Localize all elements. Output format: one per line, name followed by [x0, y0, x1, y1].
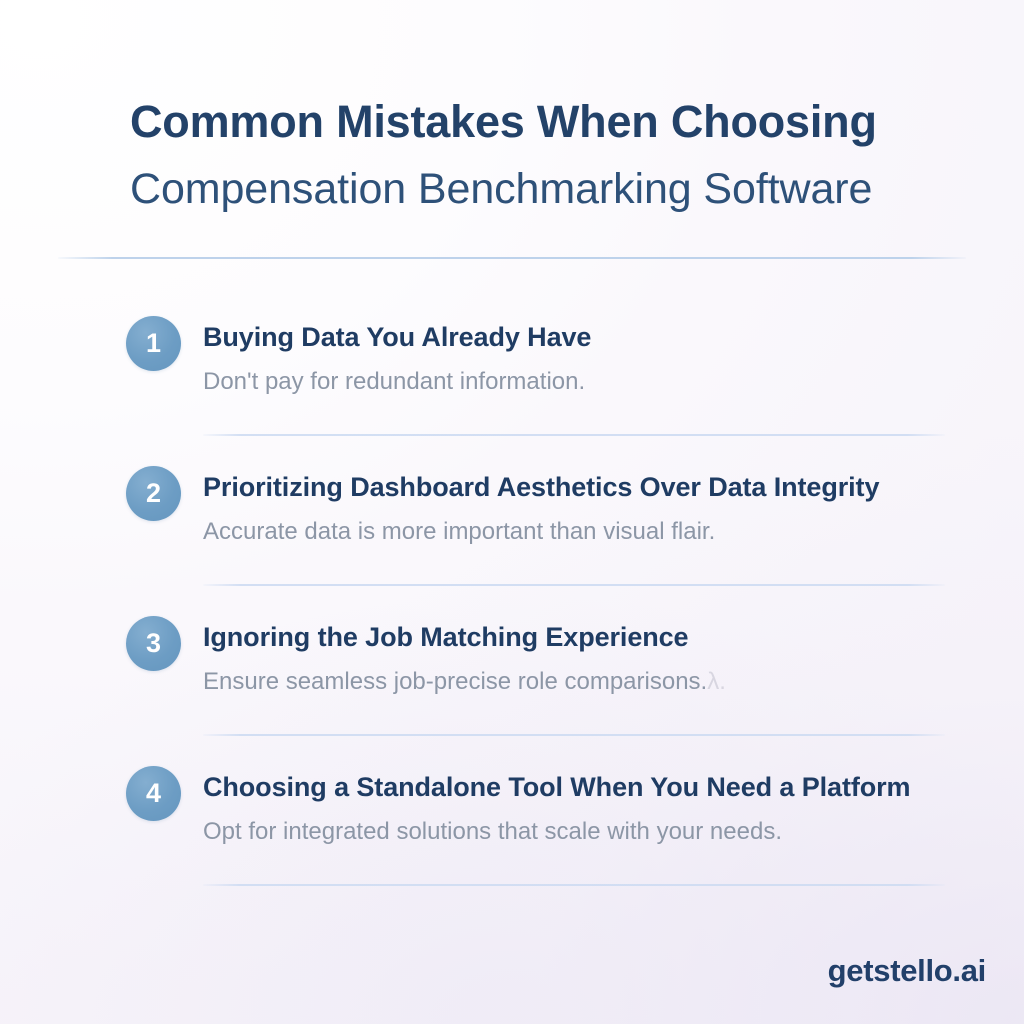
item-heading: Ignoring the Job Matching Experience [203, 604, 996, 653]
header-divider [58, 257, 966, 259]
brand-logo-text: getstello.ai [828, 955, 986, 986]
page-title-line-2: Compensation Benchmarking Software [130, 164, 970, 215]
item-divider [203, 884, 945, 886]
item-divider [203, 434, 945, 436]
list-item: 1 Buying Data You Already Have Don't pay… [0, 304, 1024, 454]
item-subtitle: Ensure seamless job-precise role compari… [203, 667, 996, 697]
item-subtitle: Opt for integrated solutions that scale … [203, 817, 996, 847]
list-item: 4 Choosing a Standalone Tool When You Ne… [0, 754, 1024, 904]
mistakes-list: 1 Buying Data You Already Have Don't pay… [0, 304, 1024, 904]
item-divider [203, 734, 945, 736]
item-text-block: Buying Data You Already Have Don't pay f… [203, 304, 996, 397]
page-title-line-1: Common Mistakes When Choosing [130, 96, 970, 148]
item-heading: Buying Data You Already Have [203, 304, 996, 353]
infographic-content: Common Mistakes When Choosing Compensati… [0, 0, 1024, 1024]
item-divider [203, 584, 945, 586]
item-subtitle: Don't pay for redundant information. [203, 367, 996, 397]
list-item: 3 Ignoring the Job Matching Experience E… [0, 604, 1024, 754]
item-heading: Prioritizing Dashboard Aesthetics Over D… [203, 454, 996, 503]
item-subtitle: Accurate data is more important than vis… [203, 517, 996, 547]
item-text-block: Choosing a Standalone Tool When You Need… [203, 754, 996, 847]
item-subtitle-text: Ensure seamless job-precise role compari… [203, 668, 707, 695]
item-heading: Choosing a Standalone Tool When You Need… [203, 754, 996, 803]
item-number-badge: 2 [126, 466, 181, 521]
item-text-block: Ignoring the Job Matching Experience Ens… [203, 604, 996, 697]
list-item: 2 Prioritizing Dashboard Aesthetics Over… [0, 454, 1024, 604]
item-number-badge: 1 [126, 316, 181, 371]
render-artifact-glyph: λ. [707, 668, 726, 695]
item-number-badge: 4 [126, 766, 181, 821]
item-number-badge: 3 [126, 616, 181, 671]
item-text-block: Prioritizing Dashboard Aesthetics Over D… [203, 454, 996, 547]
title-block: Common Mistakes When Choosing Compensati… [130, 96, 970, 215]
infographic-canvas: Common Mistakes When Choosing Compensati… [0, 0, 1024, 1024]
